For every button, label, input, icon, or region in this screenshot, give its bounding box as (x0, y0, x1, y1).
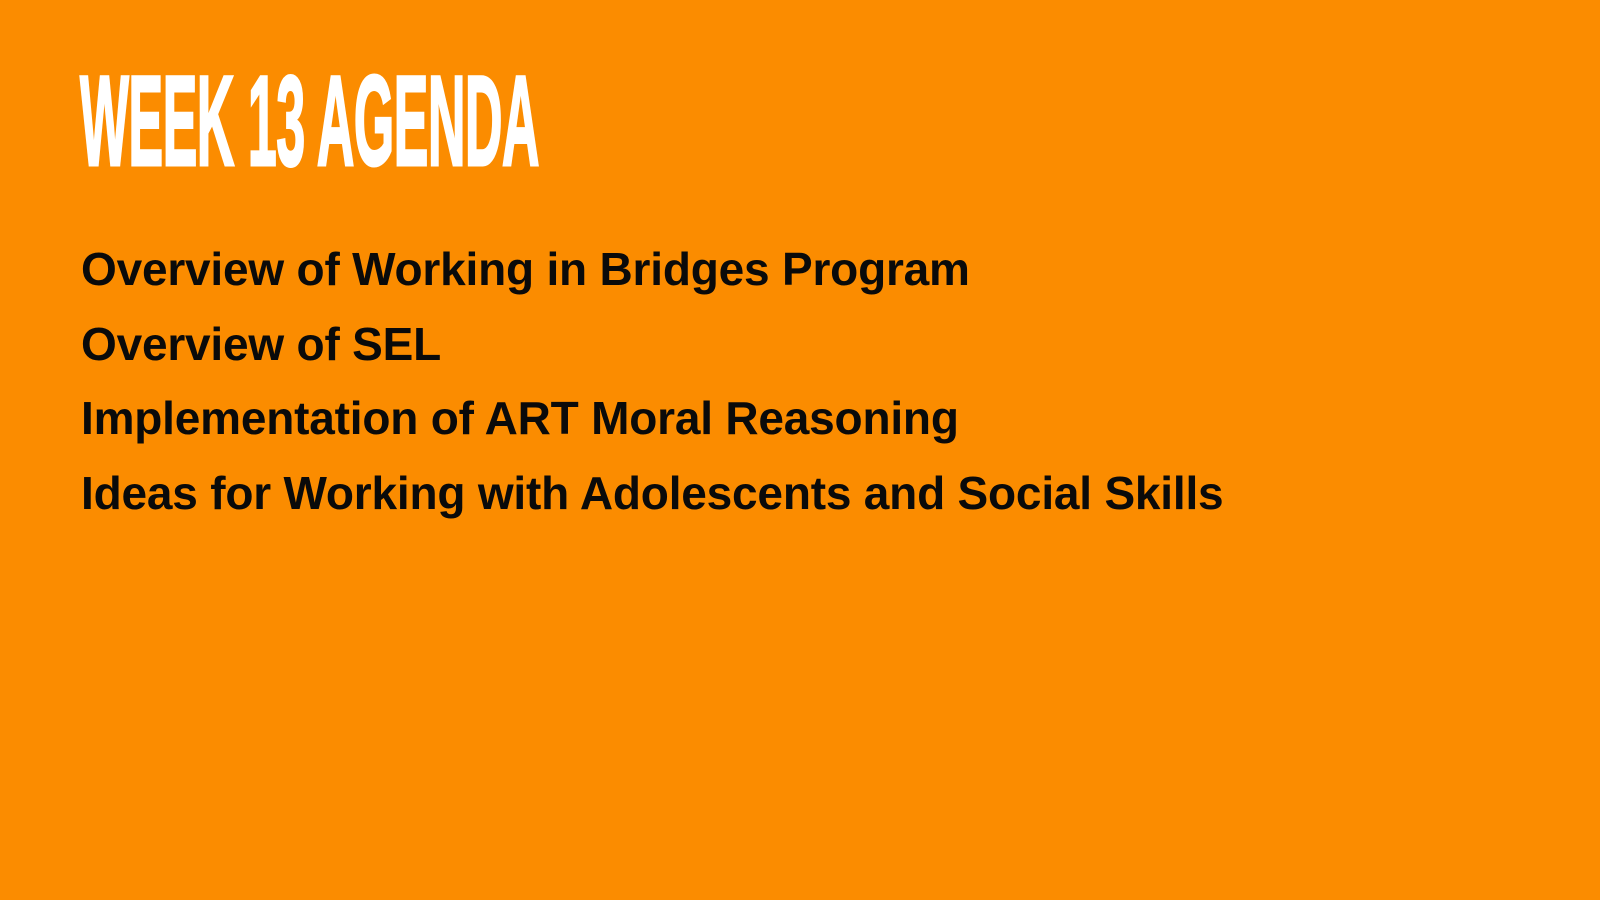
slide-canvas: WEEK 13 AGENDA Overview of Working in Br… (0, 0, 1600, 900)
page-title: WEEK 13 AGENDA (80, 62, 539, 182)
agenda-list: Overview of Working in Bridges Program O… (81, 232, 1541, 530)
list-item: Overview of Working in Bridges Program (81, 232, 1541, 307)
list-item: Ideas for Working with Adolescents and S… (81, 456, 1541, 531)
list-item: Implementation of ART Moral Reasoning (81, 381, 1541, 456)
list-item: Overview of SEL (81, 307, 1541, 382)
